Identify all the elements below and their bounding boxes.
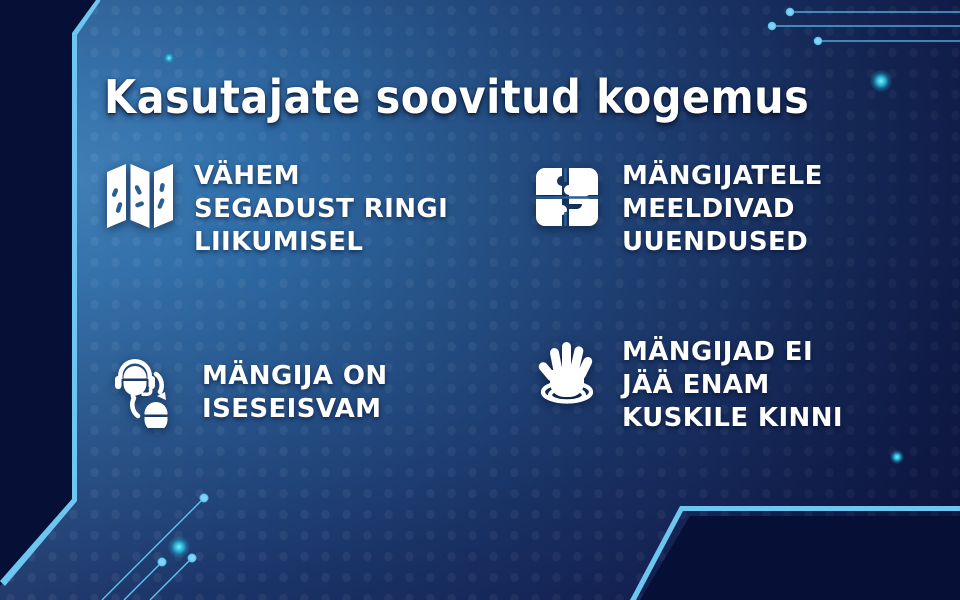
feature-item-autonomy: MÄNGIJA ON ISESEISVAM — [112, 350, 387, 428]
glow-accent-dot — [870, 70, 892, 92]
feature-item-updates: MÄNGIJATELE MEELDIVAD UUENDUSED — [532, 158, 823, 259]
slide-title: Kasutajate soovitud kogemus — [104, 74, 809, 120]
glow-accent-dot — [163, 52, 175, 64]
folded-map-icon — [104, 158, 176, 236]
feature-item-stuck: MÄNGIJAD EI JÄÄ ENAM KUSKILE KINNI — [532, 334, 843, 435]
slide-canvas: Kasutajate soovitud kogemus — [0, 0, 960, 600]
sinking-hand-icon — [532, 334, 604, 412]
feature-label: MÄNGIJAD EI JÄÄ ENAM KUSKILE KINNI — [622, 334, 843, 435]
feature-list: VÄHEM SEGADUST RINGI LIIKUMISEL — [104, 158, 904, 468]
feature-item-map: VÄHEM SEGADUST RINGI LIIKUMISEL — [104, 158, 448, 259]
glow-accent-dot — [168, 536, 190, 558]
feature-label: VÄHEM SEGADUST RINGI LIIKUMISEL — [194, 158, 448, 259]
puzzle-pieces-icon — [532, 158, 604, 236]
feature-label: MÄNGIJATELE MEELDIVAD UUENDUSED — [622, 158, 823, 259]
support-handoff-icon — [112, 350, 184, 428]
feature-label: MÄNGIJA ON ISESEISVAM — [202, 350, 387, 426]
